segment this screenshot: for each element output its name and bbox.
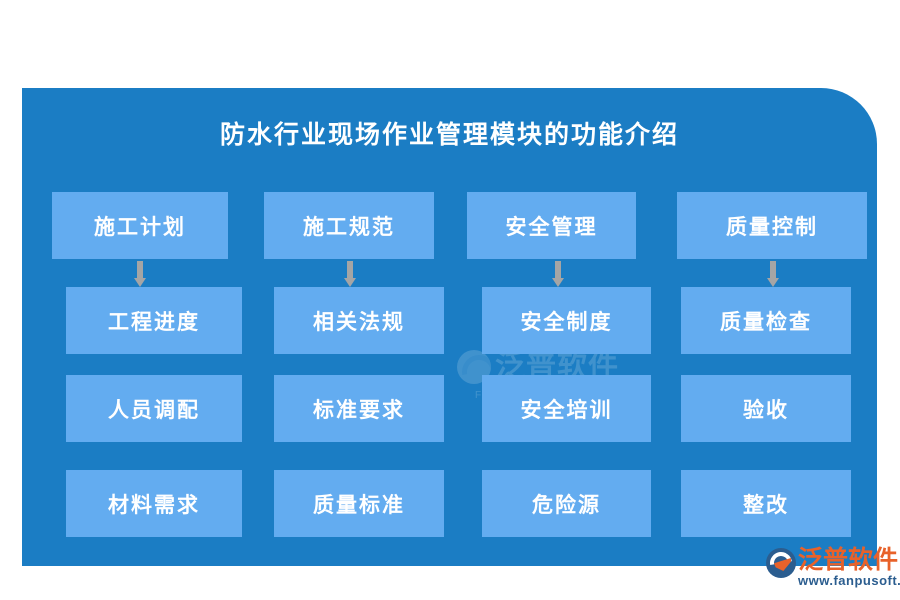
module-box-construction-2[interactable]: 人员调配 bbox=[66, 375, 242, 442]
arrow-head-icon bbox=[767, 278, 779, 287]
module-box-construction-1[interactable]: 工程进度 bbox=[66, 287, 242, 354]
arrow-shaft bbox=[770, 261, 776, 279]
arrow-down-specification bbox=[344, 261, 356, 289]
module-grid: 施工计划 施工规范 安全管理 质量控制 工程进度 相 bbox=[22, 88, 877, 566]
module-box-quality-1[interactable]: 质量检查 bbox=[681, 287, 851, 354]
module-box-specification-header[interactable]: 施工规范 bbox=[264, 192, 434, 259]
fanpu-logo-icon bbox=[766, 548, 796, 578]
arrow-down-quality bbox=[767, 261, 779, 289]
brand-logo: 泛普软件 www.fanpusoft.com bbox=[766, 547, 900, 588]
screenshot-canvas: 泛普软件 FANPU SOFTWARE 防水行业现场作业管理模块的功能介绍 施工… bbox=[0, 0, 900, 600]
page-title: 防水行业现场作业管理模块的功能介绍 bbox=[22, 115, 877, 151]
arrow-down-safety bbox=[552, 261, 564, 289]
module-box-safety-header[interactable]: 安全管理 bbox=[467, 192, 636, 259]
module-box-specification-1[interactable]: 相关法规 bbox=[274, 287, 444, 354]
brand-text: 泛普软件 www.fanpusoft.com bbox=[798, 547, 900, 588]
module-box-safety-3[interactable]: 危险源 bbox=[482, 470, 651, 537]
module-box-safety-1[interactable]: 安全制度 bbox=[482, 287, 651, 354]
arrow-shaft bbox=[137, 261, 143, 279]
module-box-safety-2[interactable]: 安全培训 bbox=[482, 375, 651, 442]
module-box-quality-2[interactable]: 验收 bbox=[681, 375, 851, 442]
arrow-shaft bbox=[555, 261, 561, 279]
module-box-specification-3[interactable]: 质量标准 bbox=[274, 470, 444, 537]
arrow-shaft bbox=[347, 261, 353, 279]
module-box-quality-3[interactable]: 整改 bbox=[681, 470, 851, 537]
arrow-head-icon bbox=[552, 278, 564, 287]
arrow-down-construction bbox=[134, 261, 146, 289]
brand-name: 泛普软件 bbox=[798, 547, 900, 573]
brand-url: www.fanpusoft.com bbox=[798, 573, 900, 588]
module-box-quality-header[interactable]: 质量控制 bbox=[677, 192, 867, 259]
arrow-head-icon bbox=[344, 278, 356, 287]
module-box-construction-header[interactable]: 施工计划 bbox=[52, 192, 228, 259]
arrow-head-icon bbox=[134, 278, 146, 287]
module-box-specification-2[interactable]: 标准要求 bbox=[274, 375, 444, 442]
content-panel: 泛普软件 FANPU SOFTWARE 防水行业现场作业管理模块的功能介绍 施工… bbox=[22, 88, 877, 566]
module-box-construction-3[interactable]: 材料需求 bbox=[66, 470, 242, 537]
